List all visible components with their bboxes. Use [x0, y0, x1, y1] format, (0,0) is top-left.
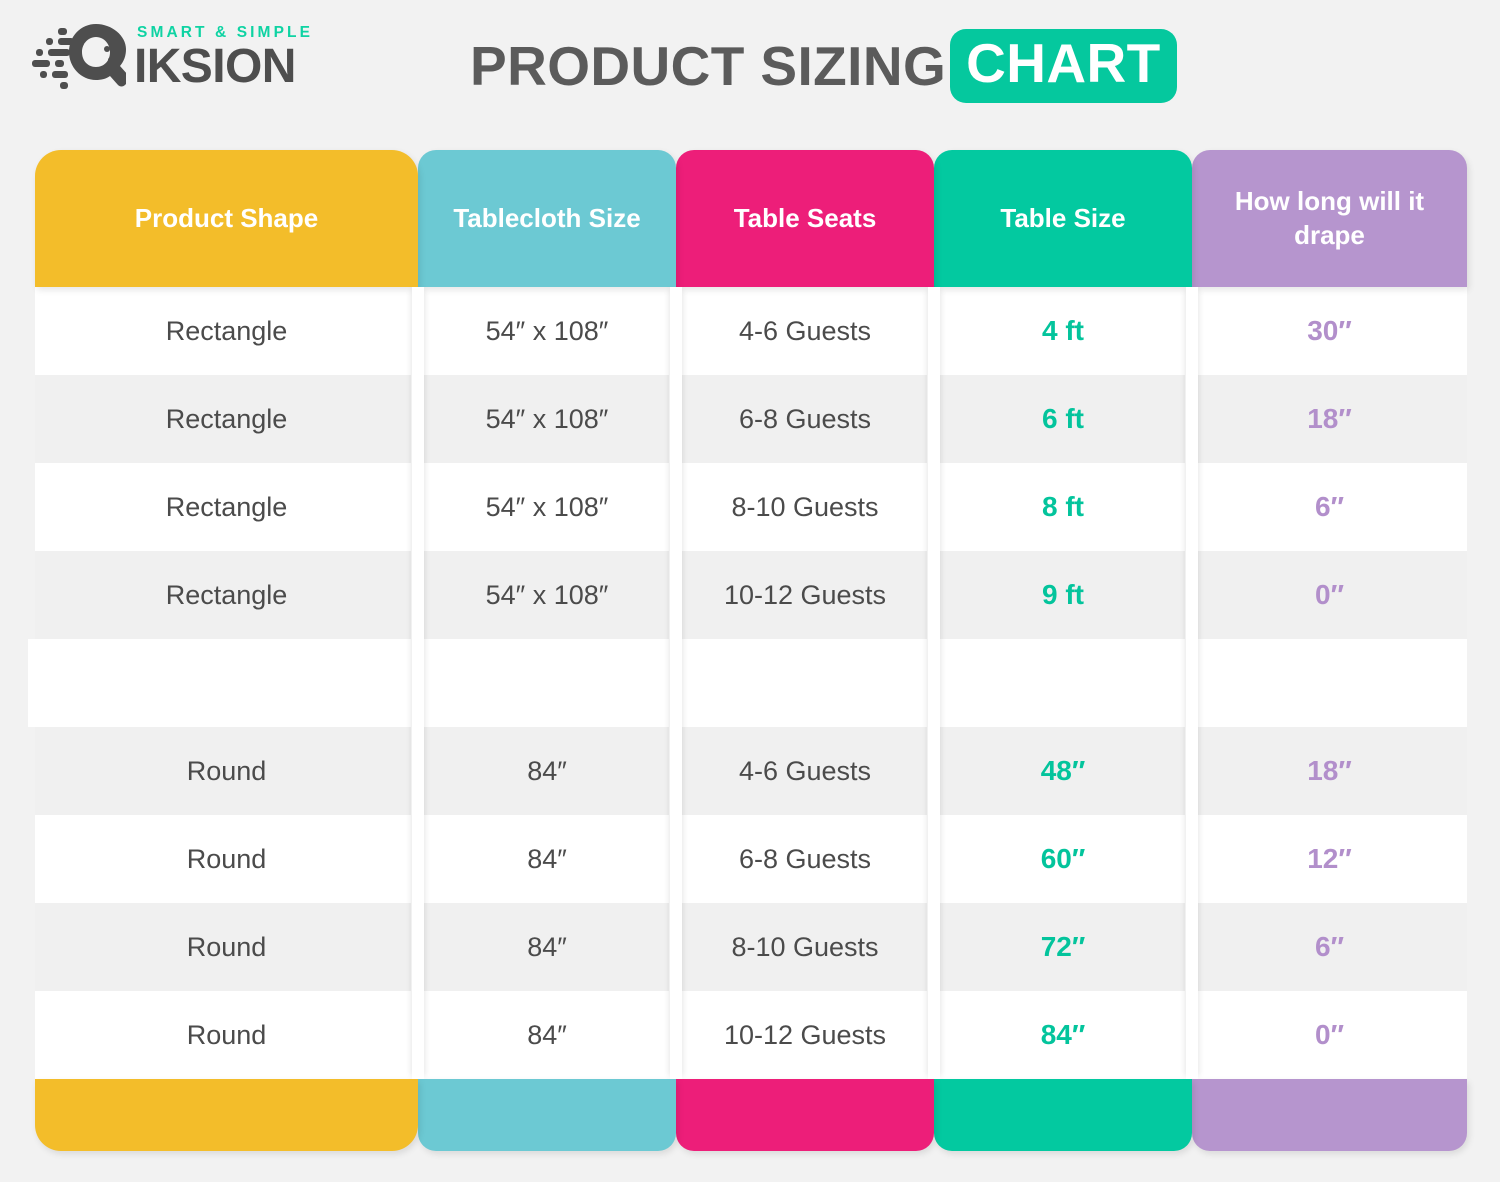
table-row: 8-10 Guests [676, 463, 934, 551]
table-row: 6″ [1192, 463, 1467, 551]
table-row: 30″ [1192, 287, 1467, 375]
table-row-spacer [1192, 639, 1467, 727]
cell-product-shape: Round [187, 756, 267, 787]
table-row: Rectangle [35, 375, 418, 463]
table-row-spacer [418, 639, 676, 727]
cell-product-shape: Round [187, 1020, 267, 1051]
cell-tablecloth-size: 84″ [527, 932, 567, 963]
table-row: 6 ft [934, 375, 1192, 463]
table-row: 84″ [418, 727, 676, 815]
brand-name: IKSION [134, 43, 313, 91]
table-row: 54″ x 108″ [418, 375, 676, 463]
table-row: 72″ [934, 903, 1192, 991]
cell-drape-length: 18″ [1307, 403, 1352, 435]
cell-tablecloth-size: 84″ [527, 756, 567, 787]
table-row: 18″ [1192, 375, 1467, 463]
table-row: Round [35, 903, 418, 991]
table-footer-accent [1192, 1079, 1467, 1151]
table-row-spacer [934, 639, 1192, 727]
cell-table-size: 84″ [1041, 1019, 1086, 1051]
cell-table-seats: 8-10 Guests [731, 492, 878, 523]
cell-drape-length: 6″ [1315, 491, 1344, 523]
cell-table-size: 72″ [1041, 931, 1086, 963]
page-title-badge: CHART [950, 29, 1176, 103]
table-row: 48″ [934, 727, 1192, 815]
sizing-chart-page: SMART & SIMPLE IKSION PRODUCT SIZING CHA… [0, 0, 1500, 1182]
sizing-table: Product Shape Tablecloth Size Table Seat… [35, 150, 1467, 1151]
cell-drape-length: 18″ [1307, 755, 1352, 787]
brand-logo[interactable]: SMART & SIMPLE IKSION [30, 20, 313, 96]
table-row: Rectangle [35, 463, 418, 551]
table-row: 0″ [1192, 551, 1467, 639]
table-row: 60″ [934, 815, 1192, 903]
table-row: 18″ [1192, 727, 1467, 815]
cell-drape-length: 12″ [1307, 843, 1352, 875]
table-row: 8 ft [934, 463, 1192, 551]
page-header: SMART & SIMPLE IKSION PRODUCT SIZING CHA… [0, 0, 1500, 130]
table-row: 54″ x 108″ [418, 287, 676, 375]
page-title-main: PRODUCT SIZING [470, 34, 946, 98]
cell-table-seats: 8-10 Guests [731, 932, 878, 963]
cell-table-size: 48″ [1041, 755, 1086, 787]
column-header-drape-length: How long will it drape [1192, 150, 1467, 287]
column-header-label: Product Shape [135, 202, 318, 235]
column-header-label: Table Seats [734, 202, 877, 235]
cell-table-size: 9 ft [1042, 579, 1084, 611]
table-row-spacer [676, 639, 934, 727]
cell-tablecloth-size: 54″ x 108″ [486, 404, 609, 435]
table-row: 54″ x 108″ [418, 551, 676, 639]
table-row: 6-8 Guests [676, 375, 934, 463]
column-header-product-shape: Product Shape [35, 150, 418, 287]
table-grid: Product Shape Tablecloth Size Table Seat… [35, 150, 1467, 1151]
cell-table-size: 4 ft [1042, 315, 1084, 347]
column-header-label: Table Size [1000, 202, 1125, 235]
cell-tablecloth-size: 54″ x 108″ [486, 316, 609, 347]
cell-product-shape: Rectangle [166, 580, 288, 611]
cell-drape-length: 6″ [1315, 931, 1344, 963]
column-header-label: How long will it drape [1202, 185, 1457, 252]
table-row-spacer [35, 639, 418, 727]
table-row: 10-12 Guests [676, 551, 934, 639]
brand-text: SMART & SIMPLE IKSION [134, 25, 313, 91]
table-row: 0″ [1192, 991, 1467, 1079]
table-row: Rectangle [35, 551, 418, 639]
table-row: 4 ft [934, 287, 1192, 375]
table-row: 84″ [418, 815, 676, 903]
table-row: 84″ [418, 991, 676, 1079]
table-row: 4-6 Guests [676, 727, 934, 815]
table-row: 84″ [934, 991, 1192, 1079]
cell-table-seats: 4-6 Guests [739, 756, 871, 787]
cell-tablecloth-size: 54″ x 108″ [486, 492, 609, 523]
table-row: 6-8 Guests [676, 815, 934, 903]
cell-product-shape: Round [187, 844, 267, 875]
table-row: Round [35, 727, 418, 815]
table-row: 8-10 Guests [676, 903, 934, 991]
cell-table-seats: 6-8 Guests [739, 844, 871, 875]
cell-product-shape: Rectangle [166, 404, 288, 435]
table-row: 6″ [1192, 903, 1467, 991]
table-row: 4-6 Guests [676, 287, 934, 375]
cell-table-seats: 6-8 Guests [739, 404, 871, 435]
column-header-label: Tablecloth Size [453, 202, 640, 235]
column-header-table-size: Table Size [934, 150, 1192, 287]
table-footer-accent [934, 1079, 1192, 1151]
column-header-table-seats: Table Seats [676, 150, 934, 287]
table-row: Round [35, 815, 418, 903]
cell-table-size: 8 ft [1042, 491, 1084, 523]
table-row: 12″ [1192, 815, 1467, 903]
cell-table-seats: 4-6 Guests [739, 316, 871, 347]
cell-drape-length: 0″ [1315, 1019, 1344, 1051]
cell-table-size: 60″ [1041, 843, 1086, 875]
table-row: 54″ x 108″ [418, 463, 676, 551]
cell-product-shape: Rectangle [166, 316, 288, 347]
table-footer-accent [418, 1079, 676, 1151]
cell-drape-length: 0″ [1315, 579, 1344, 611]
cell-product-shape: Round [187, 932, 267, 963]
page-title: PRODUCT SIZING CHART [470, 24, 1177, 108]
table-row: 10-12 Guests [676, 991, 934, 1079]
cell-tablecloth-size: 54″ x 108″ [486, 580, 609, 611]
brand-tagline: SMART & SIMPLE [137, 25, 313, 41]
table-row: 84″ [418, 903, 676, 991]
cell-tablecloth-size: 84″ [527, 844, 567, 875]
table-row: 9 ft [934, 551, 1192, 639]
cell-table-seats: 10-12 Guests [724, 1020, 886, 1051]
cell-tablecloth-size: 84″ [527, 1020, 567, 1051]
table-footer-accent [35, 1079, 418, 1151]
cell-table-size: 6 ft [1042, 403, 1084, 435]
magnifier-q-icon [30, 20, 126, 96]
cell-product-shape: Rectangle [166, 492, 288, 523]
table-footer-accent [676, 1079, 934, 1151]
table-row: Round [35, 991, 418, 1079]
cell-table-seats: 10-12 Guests [724, 580, 886, 611]
cell-drape-length: 30″ [1307, 315, 1352, 347]
table-row: Rectangle [35, 287, 418, 375]
column-header-tablecloth-size: Tablecloth Size [418, 150, 676, 287]
